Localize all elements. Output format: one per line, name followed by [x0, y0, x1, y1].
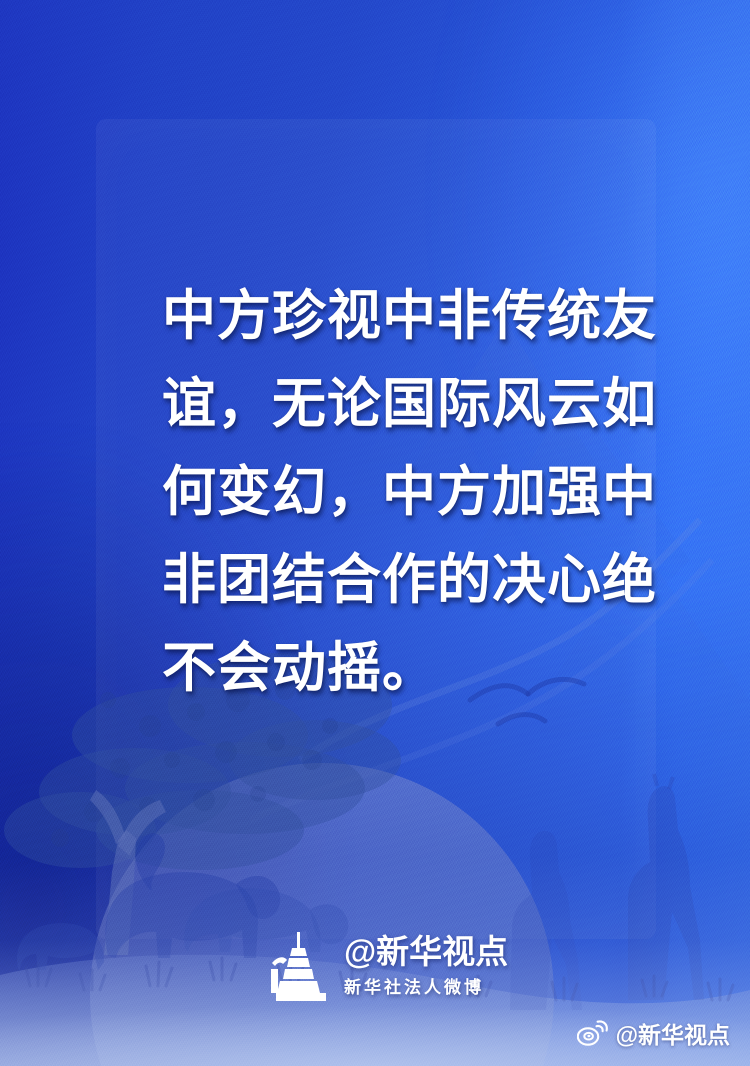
center-watermark-subtitle: 新华社法人微博: [344, 973, 508, 998]
corner-watermark-handle: @新华视点: [616, 1016, 730, 1050]
poster-canvas: 中方珍视中非传统友 谊，无论国际风云如 何变幻，中方加强中 非团结合作的决心绝 …: [0, 0, 750, 1066]
corner-watermark: @新华视点: [577, 1016, 730, 1050]
quote-block: 中方珍视中非传统友 谊，无论国际风云如 何变幻，中方加强中 非团结合作的决心绝 …: [162, 272, 602, 712]
center-watermark-text: @新华视点 新华社法人微博: [344, 934, 508, 998]
center-watermark: @新华视点 新华社法人微博: [270, 930, 508, 1002]
quote-line: 中方珍视中非传统友: [162, 272, 602, 360]
quote-line: 不会动摇。: [162, 624, 602, 712]
weibo-eye-icon: [577, 1020, 608, 1046]
quote-line: 谊，无论国际风云如: [162, 360, 602, 448]
quote-line: 非团结合作的决心绝: [162, 536, 602, 624]
quote-line: 何变幻，中方加强中: [162, 448, 602, 536]
center-watermark-handle: @新华视点: [344, 934, 508, 970]
xinhua-tower-logo-icon: [270, 930, 332, 1002]
